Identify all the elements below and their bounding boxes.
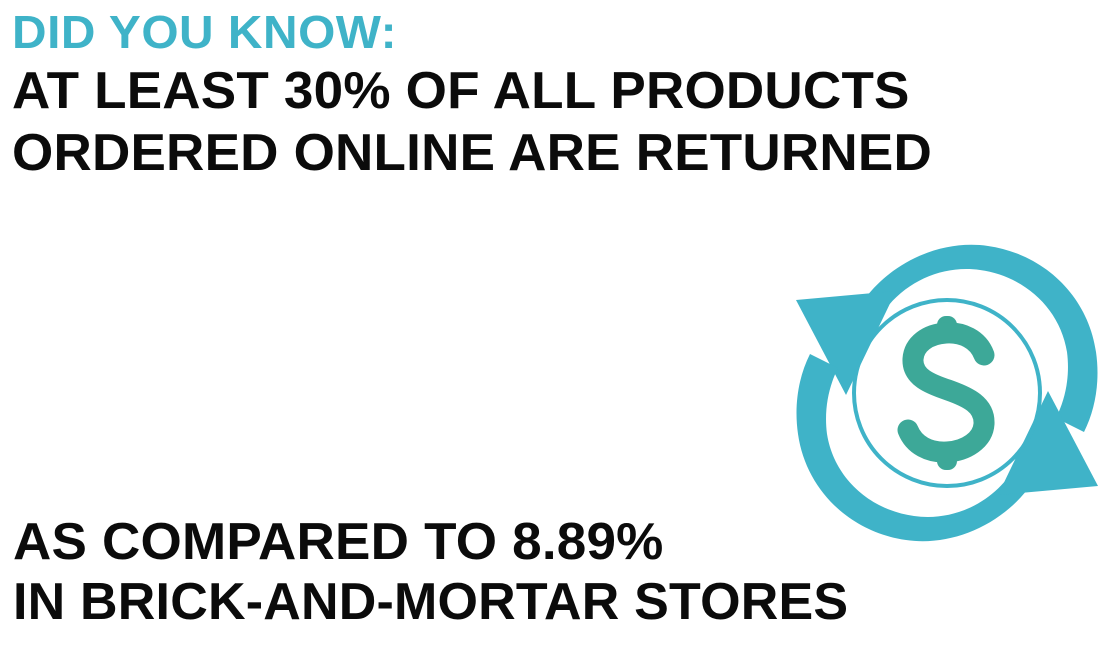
top-text-block: DID YOU KNOW: AT LEAST 30% OF ALL PRODUC… (12, 4, 1107, 184)
return-dollar-cycle-svg (788, 232, 1106, 554)
return-dollar-cycle-icon (788, 232, 1106, 554)
bottom-text-block: AS COMPARED TO 8.89% IN BRICK-AND-MORTAR… (13, 512, 1108, 632)
headline-line-1: AT LEAST 30% OF ALL PRODUCTS (12, 60, 1117, 122)
headline-line-2: ORDERED ONLINE ARE RETURNED (12, 122, 1117, 184)
comparison-line-1: AS COMPARED TO 8.89% (13, 512, 1117, 572)
comparison-line-2: IN BRICK-AND-MORTAR STORES (13, 572, 1108, 632)
kicker-did-you-know: DID YOU KNOW: (12, 4, 1117, 60)
infographic-canvas: DID YOU KNOW: AT LEAST 30% OF ALL PRODUC… (0, 0, 1117, 672)
dollar-sign-icon (908, 316, 984, 470)
